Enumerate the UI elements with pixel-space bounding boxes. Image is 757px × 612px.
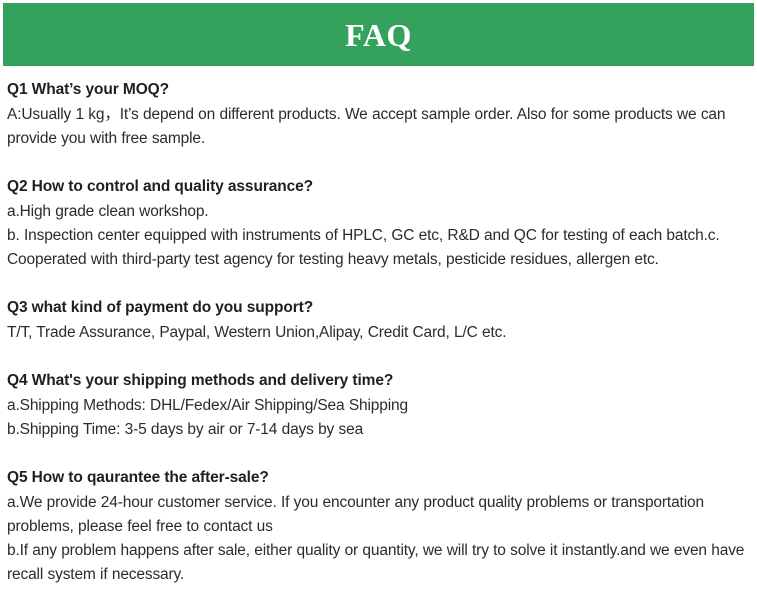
faq-item: Q3 what kind of payment do you support? … [7,296,749,345]
faq-answer: a.High grade clean workshop. [7,200,749,224]
faq-answer: b. Inspection center equipped with instr… [7,224,749,272]
faq-item: Q5 How to qaurantee the after-sale? a.We… [7,466,749,587]
faq-answer: A:Usually 1 kg，It’s depend on different … [7,103,749,151]
faq-question: Q1 What’s your MOQ? [7,78,749,102]
faq-answer: a.We provide 24-hour customer service. I… [7,491,749,539]
faq-content: Q1 What’s your MOQ? A:Usually 1 kg，It’s … [7,78,749,587]
faq-answer: b.If any problem happens after sale, eit… [7,539,749,587]
faq-answer: b.Shipping Time: 3-5 days by air or 7-14… [7,418,749,442]
faq-title: FAQ [345,19,412,51]
faq-item: Q4 What's your shipping methods and deli… [7,369,749,442]
faq-page: FAQ Q1 What’s your MOQ? A:Usually 1 kg，I… [0,0,757,612]
faq-header-banner: FAQ [3,3,754,66]
faq-item: Q2 How to control and quality assurance?… [7,175,749,272]
faq-answer: T/T, Trade Assurance, Paypal, Western Un… [7,321,749,345]
faq-answer: a.Shipping Methods: DHL/Fedex/Air Shippi… [7,394,749,418]
faq-item: Q1 What’s your MOQ? A:Usually 1 kg，It’s … [7,78,749,151]
faq-question: Q2 How to control and quality assurance? [7,175,749,199]
faq-question: Q4 What's your shipping methods and deli… [7,369,749,393]
faq-question: Q3 what kind of payment do you support? [7,296,749,320]
faq-question: Q5 How to qaurantee the after-sale? [7,466,749,490]
